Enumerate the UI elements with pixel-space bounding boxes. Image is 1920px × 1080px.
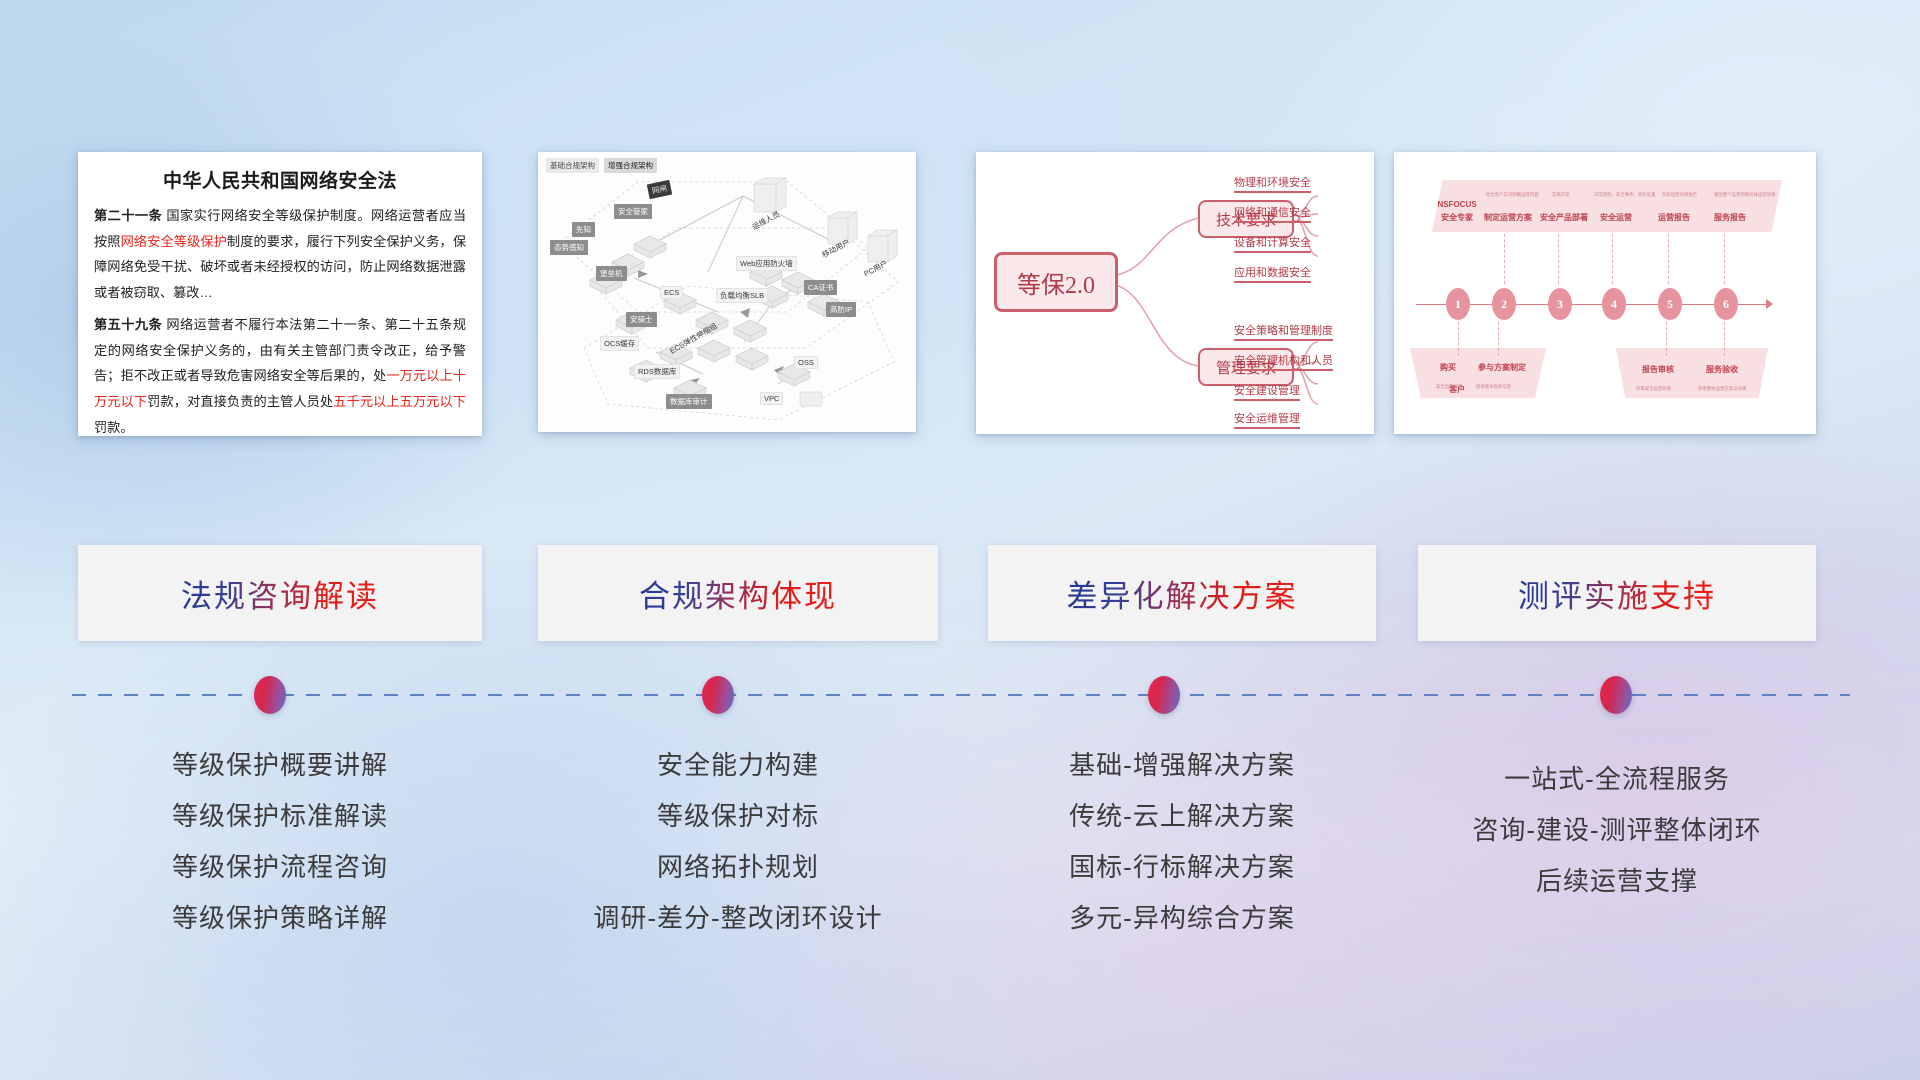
timeline-bottom-label-1: 购买 xyxy=(1440,362,1456,373)
timeline-top-sub-6: 输出整个运营周期总体运营效果 xyxy=(1714,192,1775,198)
node-label-rds-database: RDS数据库 xyxy=(634,364,680,379)
timeline-top-sub-4: 日常巡检、安全事件、高危处置 xyxy=(1594,192,1655,198)
slide-stage: 中华人民共和国网络安全法 第二十一条 国家实行网络安全等级保护制度。网络运营者应… xyxy=(0,0,1920,1080)
timeline-bottom-label-5: 报告审核 xyxy=(1642,364,1674,375)
timeline-connector-b1 xyxy=(1458,322,1459,356)
timeline-role-provider-line1: NSFOCUS xyxy=(1434,200,1480,209)
list-item: 一站式-全流程服务 xyxy=(1418,754,1816,805)
law-article-59: 第五十九条 网络运营者不履行本法第二十一条、第二十五条规定的网络安全保护义务的，… xyxy=(94,312,466,436)
detail-list-assessment-support: 一站式-全流程服务 咨询-建设-测评整体闭环 后续运营支撑 xyxy=(1418,754,1816,907)
timeline-connector-b6 xyxy=(1724,322,1725,356)
card-cloud-architecture: 基础合规架构 增强合规架构 xyxy=(538,152,916,432)
timeline-top-label-4: 安全运营 xyxy=(1600,212,1632,223)
law-article-21: 第二十一条 国家实行网络安全等级保护制度。网络运营者应当按照网络安全等级保护制度… xyxy=(94,203,466,306)
list-item: 国标-行标解决方案 xyxy=(988,842,1376,893)
node-label-oss: OSS xyxy=(794,356,818,369)
mindmap-root: 等保2.0 xyxy=(994,252,1118,312)
heading-row: 法规咨询解读 合规架构体现 差异化解决方案 测评实施支持 xyxy=(0,545,1920,650)
node-label-anti-ddos-ip: 高防IP xyxy=(826,302,856,317)
timeline-marker-1[interactable] xyxy=(254,676,286,714)
node-label-anqishi: 安骑士 xyxy=(626,312,657,327)
card-mindmap-dengbao: 等保2.0 技术要求 管理要求 物理和环境安全 网络和通信安全 设备和计算安全 … xyxy=(976,152,1374,434)
timeline-bottom-label-6: 服务验收 xyxy=(1706,364,1738,375)
timeline-arrow-icon xyxy=(1766,299,1773,309)
law-document: 中华人民共和国网络安全法 第二十一条 国家实行网络安全等级保护制度。网络运营者应… xyxy=(78,152,482,436)
timeline-marker-2[interactable] xyxy=(702,676,734,714)
heading-box-assessment-support[interactable]: 测评实施支持 xyxy=(1418,545,1816,641)
mindmap-leaf-construction: 安全建设管理 xyxy=(1234,382,1300,401)
timeline-marker-4[interactable] xyxy=(1600,676,1632,714)
article-59-text-b: 罚款，对直接负责的主管人员处 xyxy=(147,394,333,409)
timeline-top-label-2: 制定运营方案 xyxy=(1484,212,1532,223)
heading-label-2: 合规架构体现 xyxy=(639,571,837,616)
detail-list-differentiated-solution: 基础-增强解决方案 传统-云上解决方案 国标-行标解决方案 多元-异构综合方案 xyxy=(988,740,1376,944)
heading-label-4: 测评实施支持 xyxy=(1518,571,1716,616)
timeline-step-dot-6[interactable]: 6 xyxy=(1714,288,1738,320)
detail-list-regulation-consulting: 等级保护概要讲解 等级保护标准解读 等级保护流程咨询 等级保护策略详解 xyxy=(78,740,482,944)
timeline-connector-3 xyxy=(1558,234,1559,284)
timeline-top-label-5: 运营报告 xyxy=(1658,212,1690,223)
timeline-connector-b2 xyxy=(1498,322,1499,356)
heading-box-regulation-consulting[interactable]: 法规咨询解读 xyxy=(78,545,482,641)
list-item: 后续运营支撑 xyxy=(1418,856,1816,907)
timeline-step-dot-2[interactable]: 2 xyxy=(1492,288,1516,320)
list-item: 等级保护策略详解 xyxy=(78,893,482,944)
heading-label-3: 差异化解决方案 xyxy=(1067,571,1298,616)
timeline-top-label-6: 服务报告 xyxy=(1714,212,1746,223)
image-card-row: 中华人民共和国网络安全法 第二十一条 国家实行网络安全等级保护制度。网络运营者应… xyxy=(0,152,1920,442)
list-item: 调研-差分-整改闭环设计 xyxy=(538,893,938,944)
list-item: 等级保护标准解读 xyxy=(78,791,482,842)
list-item: 咨询-建设-测评整体闭环 xyxy=(1418,805,1816,856)
timeline-connector-4 xyxy=(1612,234,1613,284)
node-label-db-audit: 数据库审计 xyxy=(666,394,712,409)
list-item: 传统-云上解决方案 xyxy=(988,791,1376,842)
node-label-situational-awareness: 态势感知 xyxy=(550,240,588,255)
timeline-bottom-sub-6: 评审整体运营方案与效果 xyxy=(1698,386,1746,392)
node-label-vpc: VPC xyxy=(760,392,783,405)
timeline-connector-2 xyxy=(1504,234,1505,284)
timeline-marker-3[interactable] xyxy=(1148,676,1180,714)
heading-label-1: 法规咨询解读 xyxy=(181,571,379,616)
architecture-diagram: 基础合规架构 增强合规架构 xyxy=(538,152,916,432)
timeline-step-dot-1[interactable]: 1 xyxy=(1446,288,1470,320)
timeline-top-label-3: 安全产品部署 xyxy=(1540,212,1588,223)
law-title: 中华人民共和国网络安全法 xyxy=(94,166,466,193)
timeline-dashed-line xyxy=(72,694,1850,696)
timeline-bottom-sub-1: 安全运营报告 xyxy=(1436,384,1462,390)
detail-list-compliance-architecture: 安全能力构建 等级保护对标 网络拓扑规划 调研-差分-整改闭环设计 xyxy=(538,740,938,944)
timeline-bottom-label-2: 参与方案制定 xyxy=(1478,362,1526,373)
article-59-highlight-b: 五千元以上五万元以下 xyxy=(333,394,466,409)
node-label-ca-cert: CA证书 xyxy=(804,280,837,295)
timeline-connector-b5 xyxy=(1666,322,1667,356)
list-item: 安全能力构建 xyxy=(538,740,938,791)
card-cybersecurity-law: 中华人民共和国网络安全法 第二十一条 国家实行网络安全等级保护制度。网络运营者应… xyxy=(78,152,482,436)
heading-box-differentiated-solution[interactable]: 差异化解决方案 xyxy=(988,545,1376,641)
article-59-text-c: 罚款。 xyxy=(94,420,134,435)
node-label-ocs-cache: OCS缓存 xyxy=(600,336,639,351)
article-59-label: 第五十九条 xyxy=(94,317,162,332)
service-timeline: ★ NSFOCUS 安全专家 客户 结合客户实况明确运营内容 实施方案 日常巡检… xyxy=(1394,152,1816,434)
node-label-security-butler: 安全管家 xyxy=(614,204,652,219)
mindmap-leaf-network: 网络和通信安全 xyxy=(1234,204,1311,223)
mindmap-leaf-policy: 安全策略和管理制度 xyxy=(1234,322,1333,341)
timeline-band-customer-left xyxy=(1410,348,1546,398)
node-label-slb: 负载均衡SLB xyxy=(716,288,768,303)
list-item: 网络拓扑规划 xyxy=(538,842,938,893)
list-item: 等级保护流程咨询 xyxy=(78,842,482,893)
mindmap-leaf-org: 安全管理机构和人员 xyxy=(1234,352,1333,371)
mindmap: 等保2.0 技术要求 管理要求 物理和环境安全 网络和通信安全 设备和计算安全 … xyxy=(976,152,1374,434)
timeline-step-dot-5[interactable]: 5 xyxy=(1658,288,1682,320)
timeline-top-sub-5: 阶段运营效果报告 xyxy=(1662,192,1697,198)
mindmap-leaf-ops: 安全运维管理 xyxy=(1234,410,1300,429)
timeline-connector-5 xyxy=(1668,234,1669,284)
mindmap-leaf-application: 应用和数据安全 xyxy=(1234,264,1311,283)
timeline-top-sub-2: 结合客户实况明确运营内容 xyxy=(1486,192,1539,198)
list-item: 多元-异构综合方案 xyxy=(988,893,1376,944)
timeline-top-sub-3: 实施方案 xyxy=(1552,192,1570,198)
timeline-role-provider-line2: 安全专家 xyxy=(1434,212,1480,223)
article-21-highlight: 网络安全等级保护 xyxy=(121,234,227,249)
timeline-band-provider xyxy=(1432,180,1782,232)
node-label-xianzhi: 先知 xyxy=(572,222,595,237)
node-label-bastion-host: 堡垒机 xyxy=(596,266,627,281)
node-label-ecs: ECS xyxy=(660,286,683,299)
mindmap-leaf-device: 设备和计算安全 xyxy=(1234,234,1311,253)
node-label-waf: Web应用防火墙 xyxy=(736,256,797,271)
list-item: 等级保护概要讲解 xyxy=(78,740,482,791)
list-item: 等级保护对标 xyxy=(538,791,938,842)
card-service-timeline: ★ NSFOCUS 安全专家 客户 结合客户实况明确运营内容 实施方案 日常巡检… xyxy=(1394,152,1816,434)
mindmap-leaf-physical: 物理和环境安全 xyxy=(1234,174,1311,193)
timeline-connector-6 xyxy=(1724,234,1725,284)
timeline-bottom-sub-2: 提供基本现状信息 xyxy=(1476,384,1511,390)
timeline-step-dot-3[interactable]: 3 xyxy=(1548,288,1572,320)
timeline-bottom-sub-5: 评审安全运营效果 xyxy=(1636,386,1671,392)
article-21-label: 第二十一条 xyxy=(94,208,162,223)
list-item: 基础-增强解决方案 xyxy=(988,740,1376,791)
timeline-step-dot-4[interactable]: 4 xyxy=(1602,288,1626,320)
heading-box-compliance-architecture[interactable]: 合规架构体现 xyxy=(538,545,938,641)
